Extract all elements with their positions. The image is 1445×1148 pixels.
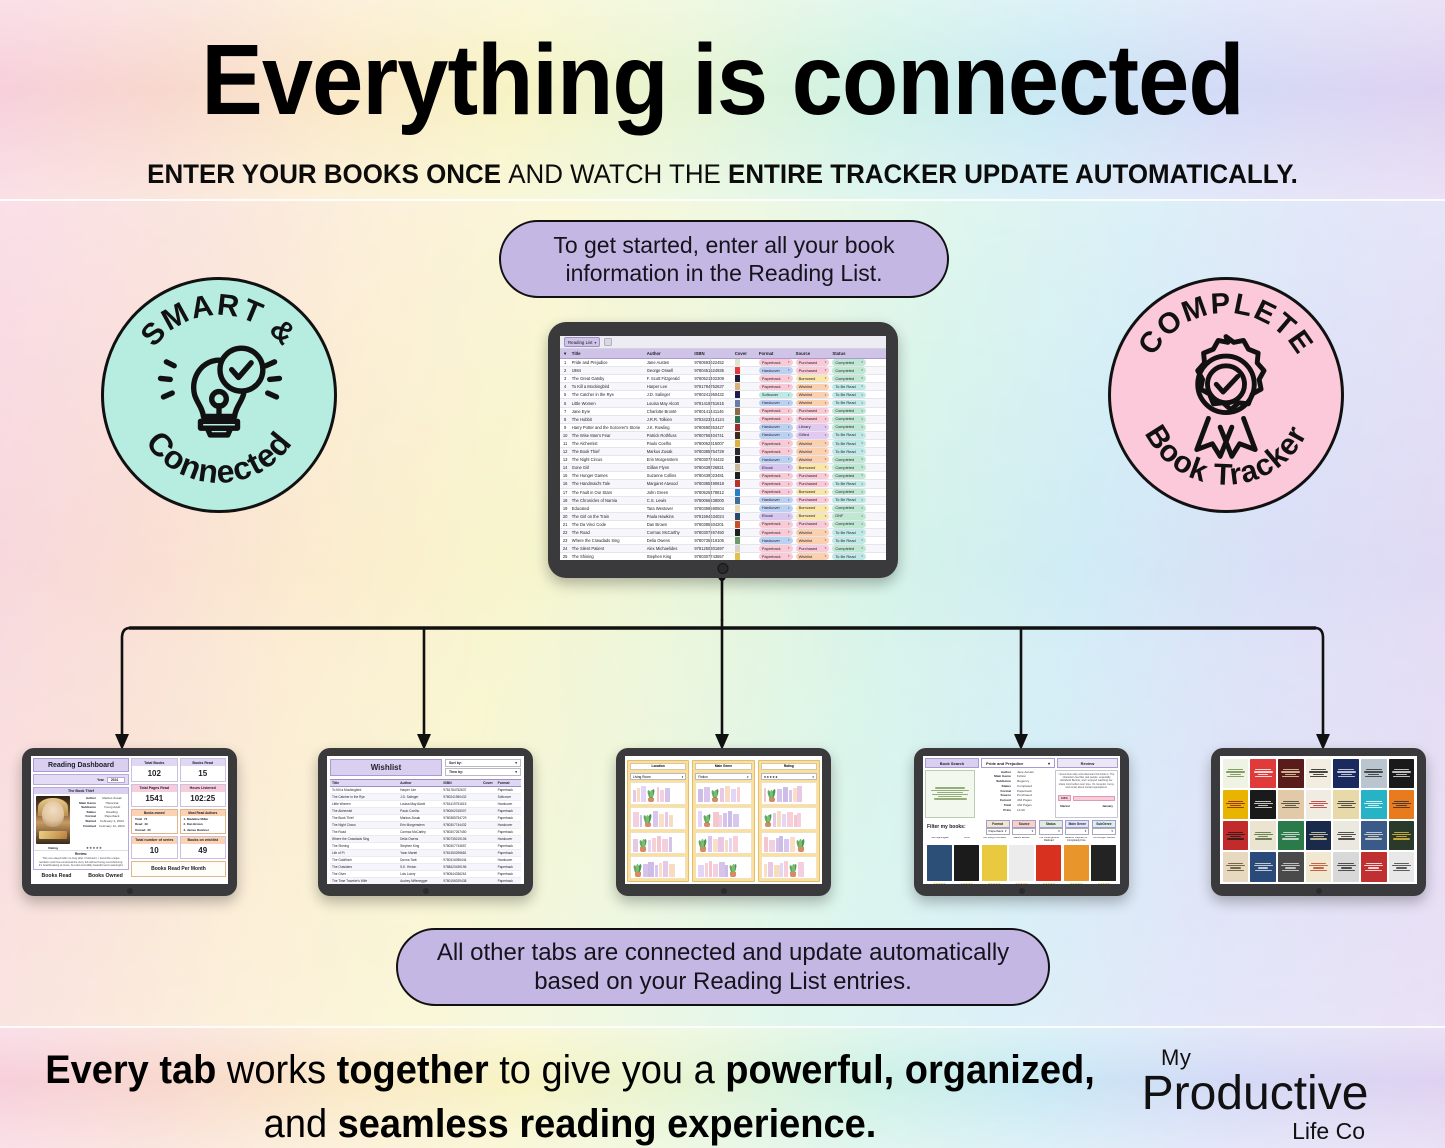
cell-isbn[interactable]: 9780307744432 <box>693 457 733 462</box>
column-isbn[interactable]: ISBN <box>693 351 733 356</box>
book-cover-tile[interactable] <box>1361 821 1387 850</box>
book-cover-tile[interactable] <box>1223 821 1249 850</box>
cell-author[interactable]: Tara Westover <box>645 506 693 511</box>
cell-isbn[interactable]: 9780385754729 <box>693 449 733 454</box>
cell-status[interactable]: To Be Read▾ <box>831 392 868 399</box>
cell-author[interactable]: Margaret Atwood <box>645 481 693 486</box>
cell-author[interactable]: Paulo Coelho <box>645 441 693 446</box>
cell-isbn[interactable]: 9780525478812 <box>693 490 733 495</box>
cell-isbn[interactable]: 9780756404741 <box>693 433 733 438</box>
table-row[interactable]: 7Jane EyreCharlotte Brontë9780141441146P… <box>560 408 886 416</box>
cell-status[interactable]: To Be Read▾ <box>831 529 868 536</box>
sort-by-select[interactable]: Sort by:▾ <box>445 759 521 767</box>
result-cover <box>1036 845 1061 881</box>
chevron-down-icon: ▾ <box>515 761 517 765</box>
column-title[interactable]: Title <box>570 351 645 356</box>
table-row[interactable]: 24The Silent PatientAlex Michaelides9781… <box>560 545 886 553</box>
cell-cover[interactable] <box>733 456 751 463</box>
book-cover-tile[interactable] <box>1333 790 1359 819</box>
cell-source[interactable]: Wishlist▾ <box>794 456 831 463</box>
cell-author[interactable]: Stephen King <box>645 554 693 559</box>
cell-cover[interactable] <box>733 529 751 536</box>
cell-format[interactable]: Paperback▾ <box>757 489 794 496</box>
cell-isbn[interactable]: 9780399590504 <box>693 506 733 511</box>
cell-status[interactable]: To Be Read▾ <box>831 400 868 407</box>
book-cover-tile[interactable] <box>1306 821 1332 850</box>
book-spine <box>768 862 773 877</box>
cell-format[interactable]: Paperback▾ <box>757 473 794 480</box>
row-index: 9 <box>560 425 570 430</box>
cell-isbn[interactable]: 9780066238000 <box>693 498 733 503</box>
cell-cover[interactable] <box>733 408 751 415</box>
cell-source[interactable]: Borrowed▾ <box>794 375 831 382</box>
table-row[interactable]: 18The Chronicles of NarniaC.S. Lewis9780… <box>560 497 886 505</box>
cell-status[interactable]: Completed▾ <box>831 367 868 374</box>
cell-title[interactable]: Where the Crawdads Sing <box>570 538 645 543</box>
cell-author[interactable]: Dan Brown <box>645 522 693 527</box>
filter-source[interactable]: Source▾ <box>1012 820 1036 835</box>
cell-title[interactable]: The Hunger Games <box>570 473 645 478</box>
cell-isbn[interactable]: 9780307267450 <box>693 530 733 535</box>
cell-isbn[interactable]: 9780439726821 <box>693 465 733 470</box>
cell-source[interactable]: Borrowed▾ <box>794 489 831 496</box>
table-row[interactable]: 4To Kill a MockingbirdHarper Lee97817847… <box>560 383 886 391</box>
cell-source[interactable]: Wishlist▾ <box>794 384 831 391</box>
result-title: The Nightingale <box>930 837 948 844</box>
cell-format[interactable]: Hardcover▾ <box>757 400 794 407</box>
cell-isbn[interactable]: 9780307743657 <box>693 554 733 559</box>
book-cover-tile[interactable] <box>1361 790 1387 819</box>
cell-source[interactable]: Purchased▾ <box>794 367 831 374</box>
book-search-select[interactable]: Pride and Prejudice▾ <box>981 758 1055 768</box>
brand-line-3: Life Co <box>1105 1119 1405 1144</box>
cell-status[interactable]: Completed▾ <box>831 521 868 528</box>
table-row[interactable]: 25The ShiningStephen King9780307743657Pa… <box>560 553 886 560</box>
cell-cover[interactable] <box>733 464 751 471</box>
cell-format[interactable]: Ebook▾ <box>757 513 794 520</box>
cell-cover[interactable] <box>733 545 751 552</box>
cell-format[interactable]: Ebook▾ <box>757 464 794 471</box>
filter-status[interactable]: Status▾ <box>1039 820 1063 835</box>
table-row[interactable]: 17The Fault in Our StarsJohn Green978052… <box>560 489 886 497</box>
cell-source[interactable]: Purchased▾ <box>794 545 831 552</box>
cell-status[interactable]: To Be Read▾ <box>831 440 868 447</box>
cell-cover[interactable] <box>733 505 751 512</box>
column-format[interactable]: Format <box>757 351 794 356</box>
cell-title[interactable]: The Wise Man's Fear <box>570 433 645 438</box>
cell-format[interactable]: Hardcover▾ <box>757 432 794 439</box>
cell-source[interactable]: Wishlist▾ <box>794 448 831 455</box>
search-result-item[interactable]: The Underground Railroad★★★★★Purchased <box>1036 837 1061 884</box>
footer: Every tab works together to give you a p… <box>0 1027 1445 1148</box>
shelf-column-select[interactable]: ★★★★★▾ <box>761 773 817 780</box>
table-row[interactable]: 11The AlchemistPaulo Coelho9780062315007… <box>560 440 886 448</box>
cell-source[interactable]: Purchased▾ <box>794 521 831 528</box>
book-cover-tile[interactable] <box>1278 821 1304 850</box>
cell-author[interactable]: Jane Austen <box>645 360 693 365</box>
shelf-column-select[interactable]: Living Room▾ <box>630 773 686 780</box>
cell-isbn[interactable]: 9780735219106 <box>693 538 733 543</box>
wl-isbn: 9780307744432 <box>441 822 481 828</box>
cell-format[interactable]: Paperback▾ <box>757 448 794 455</box>
cell-title[interactable]: The Great Gatsby <box>570 376 645 381</box>
cell-cover[interactable] <box>733 400 751 407</box>
cell-title[interactable]: The Catcher in the Rye <box>570 392 645 397</box>
cell-cover[interactable] <box>733 497 751 504</box>
list-item[interactable]: The Catcher in the RyeJ.D. Salinger97802… <box>330 794 521 801</box>
column-status[interactable]: Status <box>831 351 868 356</box>
shelf-row <box>630 782 686 805</box>
book-cover-tile[interactable] <box>1278 852 1304 881</box>
cell-format[interactable]: Hardcover▾ <box>757 537 794 544</box>
dashboard-year-filter[interactable]: Year 2024 <box>33 774 129 785</box>
list-item[interactable]: The OutsidersS.E. Hinton9788420439196Pap… <box>330 864 521 871</box>
list-item[interactable]: The Time Traveler's WifeAudrey Niffenegg… <box>330 878 521 884</box>
book-cover-tile[interactable] <box>1223 759 1249 788</box>
cell-status[interactable]: To Be Read▾ <box>831 448 868 455</box>
started-label: Started <box>1060 804 1070 808</box>
table-row[interactable]: 8The HobbitJ.R.R. Tolkien9783423214124Pa… <box>560 416 886 424</box>
cell-status[interactable]: Completed▾ <box>831 424 868 431</box>
callout-tabs-connected: All other tabs are connected and update … <box>396 928 1050 1006</box>
cell-isbn[interactable]: 9783423214124 <box>693 417 733 422</box>
cell-author[interactable]: Cormac McCarthy <box>645 530 693 535</box>
cell-title[interactable]: Pride and Prejudice <box>570 360 645 365</box>
books-owned-items: Total74Read49Unread25 <box>132 816 177 832</box>
cell-source[interactable]: Purchased▾ <box>794 408 831 415</box>
cell-author[interactable]: Patrick Rothfuss <box>645 433 693 438</box>
cell-cover[interactable] <box>733 472 751 479</box>
cell-title[interactable]: Gone Girl <box>570 465 645 470</box>
search-result-item[interactable]: The Nightingale★★★★★Purchased <box>927 837 952 884</box>
book-cover-tile[interactable] <box>1250 821 1276 850</box>
cell-title[interactable]: The Alchemist <box>570 441 645 446</box>
table-row[interactable]: 20The Girl on the TrainPaula Hawkins9781… <box>560 513 886 521</box>
cell-author[interactable]: C.S. Lewis <box>645 498 693 503</box>
table-row[interactable]: 5The Catcher in the RyeJ.D. Salinger9780… <box>560 391 886 399</box>
list-item[interactable]: Little WomenLouisa May Alcott97814197516… <box>330 801 521 808</box>
cell-cover[interactable] <box>733 440 751 447</box>
filter-format[interactable]: FormatPaperback▾ <box>986 820 1010 835</box>
cell-cover[interactable] <box>733 416 751 423</box>
table-row[interactable]: 14Gone GirlGillian Flynn9780439726821Ebo… <box>560 464 886 472</box>
cell-isbn[interactable]: 9780439023481 <box>693 473 733 478</box>
cell-title[interactable]: The Girl on the Train <box>570 514 645 519</box>
cell-source[interactable]: Purchased▾ <box>794 497 831 504</box>
result-cover <box>1064 845 1089 881</box>
wl-cover <box>481 787 496 793</box>
list-item[interactable]: The RoadCormac McCarthy9780307267450Pape… <box>330 829 521 836</box>
cell-author[interactable]: Gillian Flynn <box>645 465 693 470</box>
book-cover-tile[interactable] <box>1278 790 1304 819</box>
book-search-field: SourcePurchased <box>977 793 1053 797</box>
cell-status[interactable]: To Be Read▾ <box>831 384 868 391</box>
filter-main-genre[interactable]: Main Genre▾ <box>1065 820 1089 835</box>
cell-cover[interactable] <box>733 432 751 439</box>
table-row[interactable]: 16The Handmaid's TaleMargaret Atwood9780… <box>560 480 886 488</box>
cell-author[interactable]: F. Scott Fitzgerald <box>645 376 693 381</box>
cell-title[interactable]: Jane Eyre <box>570 409 645 414</box>
cell-isbn[interactable]: 9781594634024 <box>693 514 733 519</box>
column-source[interactable]: Source <box>794 351 831 356</box>
table-row[interactable]: 6Little WomenLouisa May Alcott9781419751… <box>560 399 886 407</box>
cell-title[interactable]: The Book Thief <box>570 449 645 454</box>
cell-cover[interactable] <box>733 367 751 374</box>
search-result-item[interactable]: Eleanor Oliphant Is Completely Fine★★★★★… <box>1064 837 1089 884</box>
table-row[interactable]: 23Where the Crawdads SingDelia Owens9780… <box>560 537 886 545</box>
cell-status[interactable]: Completed▾ <box>831 505 868 512</box>
cell-title[interactable]: Educated <box>570 506 645 511</box>
column-author[interactable]: Author <box>645 351 693 356</box>
table-row[interactable]: 12The Book ThiefMarkus Zusak978038575472… <box>560 448 886 456</box>
cell-cover[interactable] <box>733 513 751 520</box>
cell-format[interactable]: Hardcover▾ <box>757 497 794 504</box>
list-item[interactable]: The Book ThiefMarkus Zusak9780385754729P… <box>330 815 521 822</box>
cell-source[interactable]: Wishlist▾ <box>794 537 831 544</box>
cell-isbn[interactable]: 9780593622452 <box>693 360 733 365</box>
chevron-down-icon: ▾ <box>515 770 517 774</box>
cell-status[interactable]: Completed▾ <box>831 473 868 480</box>
book-cover-tile[interactable] <box>1278 759 1304 788</box>
cell-author[interactable]: Paula Hawkins <box>645 514 693 519</box>
cell-author[interactable]: John Green <box>645 490 693 495</box>
table-row[interactable]: 21The Da Vinci CodeDan Brown978038550420… <box>560 521 886 529</box>
cell-cover[interactable] <box>733 391 751 398</box>
table-row[interactable]: 19EducatedTara Westover9780399590504Hard… <box>560 505 886 513</box>
table-row[interactable]: 9Harry Potter and the Sorcerer's StoneJ.… <box>560 424 886 432</box>
table-row[interactable]: 13The Night CircusErin Morgenstern978030… <box>560 456 886 464</box>
cell-source[interactable]: Purchased▾ <box>794 359 831 366</box>
book-cover-tile[interactable] <box>1333 759 1359 788</box>
chevron-down-icon[interactable]: ▾ <box>594 340 596 345</box>
cell-format[interactable]: Softcover▾ <box>757 392 794 399</box>
book-cover-tile[interactable] <box>1250 790 1276 819</box>
cell-format[interactable]: Paperback▾ <box>757 553 794 560</box>
cell-title[interactable]: 1984 <box>570 368 645 373</box>
list-item[interactable]: The AlchemistPaulo Coelho9780062315007Pa… <box>330 808 521 815</box>
cell-author[interactable]: J.D. Salinger <box>645 392 693 397</box>
cell-isbn[interactable]: 9780521402309 <box>693 376 733 381</box>
cell-status[interactable]: Completed▾ <box>831 456 868 463</box>
then-by-select[interactable]: Then by:▾ <box>445 768 521 776</box>
cell-format[interactable]: Hardcover▾ <box>757 424 794 431</box>
cell-format[interactable]: Paperback▾ <box>757 375 794 382</box>
list-item[interactable]: The ShiningStephen King9780307743657Pape… <box>330 843 521 850</box>
cell-cover[interactable] <box>733 521 751 528</box>
cell-cover[interactable] <box>733 553 751 560</box>
cell-title[interactable]: To Kill a Mockingbird <box>570 384 645 389</box>
cell-source[interactable]: Purchased▾ <box>794 481 831 488</box>
book-cover-tile[interactable] <box>1250 852 1276 881</box>
cell-source[interactable]: Purchased▾ <box>794 416 831 423</box>
cell-format[interactable]: Paperback▾ <box>757 521 794 528</box>
cell-title[interactable]: The Fault in Our Stars <box>570 490 645 495</box>
cell-source[interactable]: Borrowed▾ <box>794 464 831 471</box>
cell-status[interactable]: DNF▾ <box>831 513 868 520</box>
cell-author[interactable]: George Orwell <box>645 368 693 373</box>
book-cover-tile[interactable] <box>1306 790 1332 819</box>
list-item[interactable]: Life of PiYann Martel9781350295681Paperb… <box>330 850 521 857</box>
book-cover-tile[interactable] <box>1250 759 1276 788</box>
cell-status[interactable]: Completed▾ <box>831 359 868 366</box>
wl-title: The Night Circus <box>330 822 398 828</box>
book-cover-tile[interactable] <box>1389 790 1415 819</box>
progress-value: 100% <box>1058 795 1071 801</box>
cell-title[interactable]: The Road <box>570 530 645 535</box>
cell-title[interactable]: The Night Circus <box>570 457 645 462</box>
cell-author[interactable]: Suzanne Collins <box>645 473 693 478</box>
cell-status[interactable]: Completed▾ <box>831 489 868 496</box>
cell-format[interactable]: Hardcover▾ <box>757 505 794 512</box>
cell-title[interactable]: The Hobbit <box>570 417 645 422</box>
cell-status[interactable]: Completed▾ <box>831 408 868 415</box>
cell-format[interactable]: Paperback▾ <box>757 359 794 366</box>
cell-author[interactable]: Harper Lee <box>645 384 693 389</box>
stat-total-series: Total number of series 10 <box>131 836 178 860</box>
cell-source[interactable]: Wishlist▾ <box>794 529 831 536</box>
cell-author[interactable]: Markus Zusak <box>645 449 693 454</box>
cell-isbn[interactable]: 9781419751615 <box>693 401 733 406</box>
cell-source[interactable]: Borrowed▾ <box>794 513 831 520</box>
cell-source[interactable]: Wishlist▾ <box>794 553 831 560</box>
table-row[interactable]: 15The Hunger GamesSuzanne Collins9780439… <box>560 472 886 480</box>
cell-isbn[interactable]: 9780241950432 <box>693 392 733 397</box>
cell-format[interactable]: Hardcover▾ <box>757 367 794 374</box>
book-cover-tile[interactable] <box>1223 852 1249 881</box>
cell-status[interactable]: To Be Read▾ <box>831 432 868 439</box>
search-result-item[interactable]: Circe★★★★★Purchased <box>954 837 979 884</box>
search-result-item[interactable]: The Song of Achilles★★★★★Purchased <box>982 837 1007 884</box>
table-row[interactable]: 22The RoadCormac McCarthy9780307267450Pa… <box>560 529 886 537</box>
list-item[interactable]: The Night CircusErin Morgenstern97803077… <box>330 822 521 829</box>
cell-format[interactable]: Paperback▾ <box>757 384 794 391</box>
cell-status[interactable]: Completed▾ <box>831 464 868 471</box>
cell-isbn[interactable]: 9780385504201 <box>693 522 733 527</box>
cell-isbn[interactable]: 9780451524935 <box>693 368 733 373</box>
book-spine <box>665 812 668 827</box>
shelf-column-select[interactable]: Fiction▾ <box>695 773 751 780</box>
cell-source[interactable]: Wishlist▾ <box>794 440 831 447</box>
cell-author[interactable]: J.R.R. Tolkien <box>645 417 693 422</box>
brand-line-1: My <box>1105 1047 1405 1069</box>
cell-title[interactable]: The Da Vinci Code <box>570 522 645 527</box>
cell-cover[interactable] <box>733 424 751 431</box>
list-item[interactable]: The GiverLois Lowry9780544336261Paperbac… <box>330 871 521 878</box>
cell-format[interactable]: Paperback▾ <box>757 416 794 423</box>
cell-status[interactable]: Completed▾ <box>831 375 868 382</box>
book-cover-tile[interactable] <box>1306 759 1332 788</box>
table-row[interactable]: 21984George Orwell9780451524935Hardcover… <box>560 367 886 375</box>
cell-source[interactable]: Borrowed▾ <box>794 505 831 512</box>
table-row[interactable]: 3The Great GatsbyF. Scott Fitzgerald9780… <box>560 375 886 383</box>
cell-title[interactable]: The Handmaid's Tale <box>570 481 645 486</box>
cell-title[interactable]: The Chronicles of Narnia <box>570 498 645 503</box>
filter-subgenre[interactable]: SubGenre▾ <box>1092 820 1116 835</box>
cell-author[interactable]: Erin Morgenstern <box>645 457 693 462</box>
row-index: 20 <box>560 514 570 519</box>
book-cover-tile[interactable] <box>1389 852 1415 881</box>
cell-author[interactable]: Alex Michaelides <box>645 546 693 551</box>
list-item[interactable]: To Kill a MockingbirdHarper Lee978178475… <box>330 787 521 794</box>
cell-source[interactable]: Purchased▾ <box>794 473 831 480</box>
book-cover-tile[interactable] <box>1389 821 1415 850</box>
book-cover-tile[interactable] <box>1223 790 1249 819</box>
year-select[interactable]: 2024 <box>107 777 125 783</box>
cell-status[interactable]: Completed▾ <box>831 416 868 423</box>
cell-source[interactable]: Wishlist▾ <box>794 392 831 399</box>
book-spine <box>769 840 775 852</box>
cell-format[interactable]: Paperback▾ <box>757 545 794 552</box>
cell-isbn[interactable]: 9780062315007 <box>693 441 733 446</box>
search-result-item[interactable]: The Hunger Games★★★★★Purchased <box>1091 837 1116 884</box>
cell-cover[interactable] <box>733 480 751 487</box>
cell-isbn[interactable]: 9780590353427 <box>693 425 733 430</box>
cell-isbn[interactable]: 9780385490818 <box>693 481 733 486</box>
cell-cover[interactable] <box>733 489 751 496</box>
cell-title[interactable]: Little Women <box>570 401 645 406</box>
cell-cover[interactable] <box>733 448 751 455</box>
cell-author[interactable]: J.K. Rowling <box>645 425 693 430</box>
book-cover-tile[interactable] <box>1361 759 1387 788</box>
cell-title[interactable]: Harry Potter and the Sorcerer's Stone <box>570 425 645 430</box>
cell-cover[interactable] <box>733 359 751 366</box>
cell-cover[interactable] <box>733 375 751 382</box>
wl-cover <box>481 871 496 877</box>
cell-format[interactable]: Paperback▾ <box>757 440 794 447</box>
cell-author[interactable]: Louisa May Alcott <box>645 401 693 406</box>
table-icon[interactable] <box>604 338 612 346</box>
book-spine <box>773 813 776 827</box>
table-row[interactable]: 1Pride and PrejudiceJane Austen978059362… <box>560 359 886 367</box>
book-cover-tile[interactable] <box>1333 821 1359 850</box>
row-index: 7 <box>560 409 570 414</box>
cell-isbn[interactable]: 9781784752637 <box>693 384 733 389</box>
cell-author[interactable]: Charlotte Brontë <box>645 409 693 414</box>
search-result-item[interactable]: Station Eleven★★★★★Purchased <box>1009 837 1034 884</box>
cell-author[interactable]: Delia Owens <box>645 538 693 543</box>
cell-source[interactable]: Gifted▾ <box>794 432 831 439</box>
book-cover-tile[interactable] <box>1333 852 1359 881</box>
cell-title[interactable]: The Silent Patient <box>570 546 645 551</box>
cell-source[interactable]: Library▾ <box>794 424 831 431</box>
book-cover-tile[interactable] <box>1361 852 1387 881</box>
wl-author: Harper Lee <box>398 787 441 793</box>
list-item[interactable]: The GoldfinchDonna Tartt9780316055444Har… <box>330 857 521 864</box>
cell-status[interactable]: To Be Read▾ <box>831 553 868 560</box>
cell-format[interactable]: Paperback▾ <box>757 408 794 415</box>
cell-status[interactable]: To Be Read▾ <box>831 481 868 488</box>
sheet-tab-reading-list[interactable]: Reading List ▾ <box>564 337 600 347</box>
cell-status[interactable]: Completed▾ <box>831 545 868 552</box>
column-cover[interactable]: Cover <box>733 351 751 356</box>
list-item[interactable]: Where the Crawdads SingDelia Owens978073… <box>330 836 521 843</box>
cell-format[interactable]: Hardcover▾ <box>757 456 794 463</box>
cell-cover[interactable] <box>733 383 751 390</box>
cell-status[interactable]: To Be Read▾ <box>831 497 868 504</box>
cell-isbn[interactable]: 9781250301697 <box>693 546 733 551</box>
cell-status[interactable]: To Be Read▾ <box>831 537 868 544</box>
cell-isbn[interactable]: 9780141441146 <box>693 409 733 414</box>
book-cover-tile[interactable] <box>1389 759 1415 788</box>
cell-source[interactable]: Wishlist▾ <box>794 400 831 407</box>
cell-title[interactable]: The Shining <box>570 554 645 559</box>
cell-format[interactable]: Paperback▾ <box>757 481 794 488</box>
table-row[interactable]: 10The Wise Man's FearPatrick Rothfuss978… <box>560 432 886 440</box>
cell-format[interactable]: Paperback▾ <box>757 529 794 536</box>
sheet-tab-label: Reading List <box>568 340 592 345</box>
book-cover-tile[interactable] <box>1306 852 1332 881</box>
cell-cover[interactable] <box>733 537 751 544</box>
